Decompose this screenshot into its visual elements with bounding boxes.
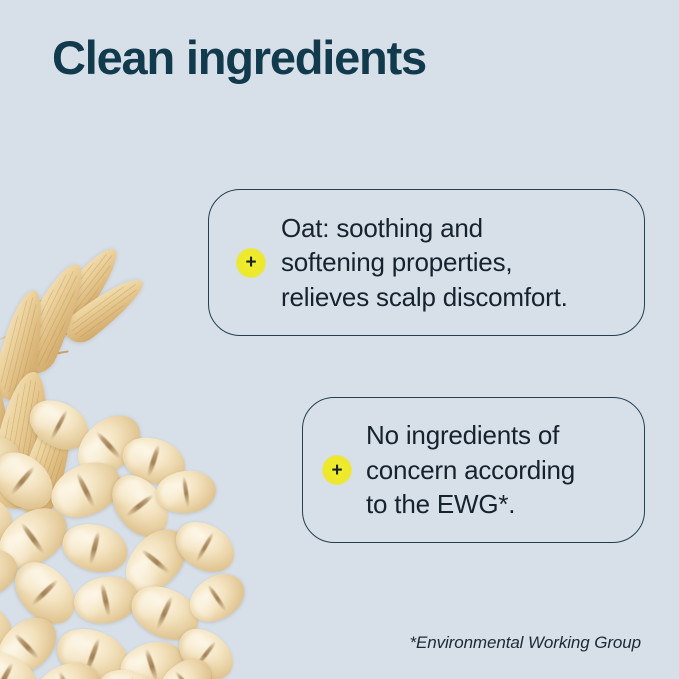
oat-flake [0,429,25,490]
oat-flake [167,512,243,581]
oat-flake [0,597,16,659]
oat-husk [60,269,151,349]
oat-flake [0,482,20,553]
oat-flake [43,452,130,529]
oat-flake [153,467,218,517]
oat-flake [117,430,191,492]
benefit-card-oat-text: Oat: soothing and softening properties, … [281,211,568,315]
oat-husk [0,286,51,403]
oat-husk [0,391,2,526]
oat-flake [57,518,132,579]
oat-awn [0,350,69,369]
benefit-card-ewg-text: No ingredients of concern according to t… [366,418,575,522]
oat-flake [101,465,179,547]
oat-flake [70,571,142,629]
page-title: Clean ingredients [52,33,426,82]
oat-flake [0,641,47,679]
oat-husk [10,256,95,380]
oat-awn [9,254,110,323]
oat-flake [0,496,78,580]
plus-icon: + [236,248,266,278]
product-benefits-card: Clean ingredients [0,0,679,679]
oat-flake [150,649,220,679]
oat-flake [0,541,24,607]
oat-flake [123,577,206,649]
oat-flake [67,404,151,487]
oat-flake [181,564,253,631]
oat-flake [0,607,67,679]
oat-flake [114,518,197,604]
oat-flake [93,663,164,679]
oat-flake [169,619,242,679]
plus-icon: + [322,455,352,485]
footnote-ewg-definition: *Environmental Working Group [409,633,641,653]
oat-flake [115,634,189,679]
oat-husk [0,368,57,512]
oat-flake [21,391,96,459]
oat-husk [13,398,83,521]
oat-husk [0,355,14,483]
oat-flake [0,441,64,520]
oat-husk [39,239,128,343]
oat-awn [0,302,90,345]
benefit-card-ewg[interactable]: + No ingredients of concern according to… [302,397,645,543]
oat-flake [50,620,137,679]
benefit-card-oat[interactable]: + Oat: soothing and softening properties… [208,189,645,336]
oat-flake [3,551,86,635]
oat-flake [28,653,106,679]
